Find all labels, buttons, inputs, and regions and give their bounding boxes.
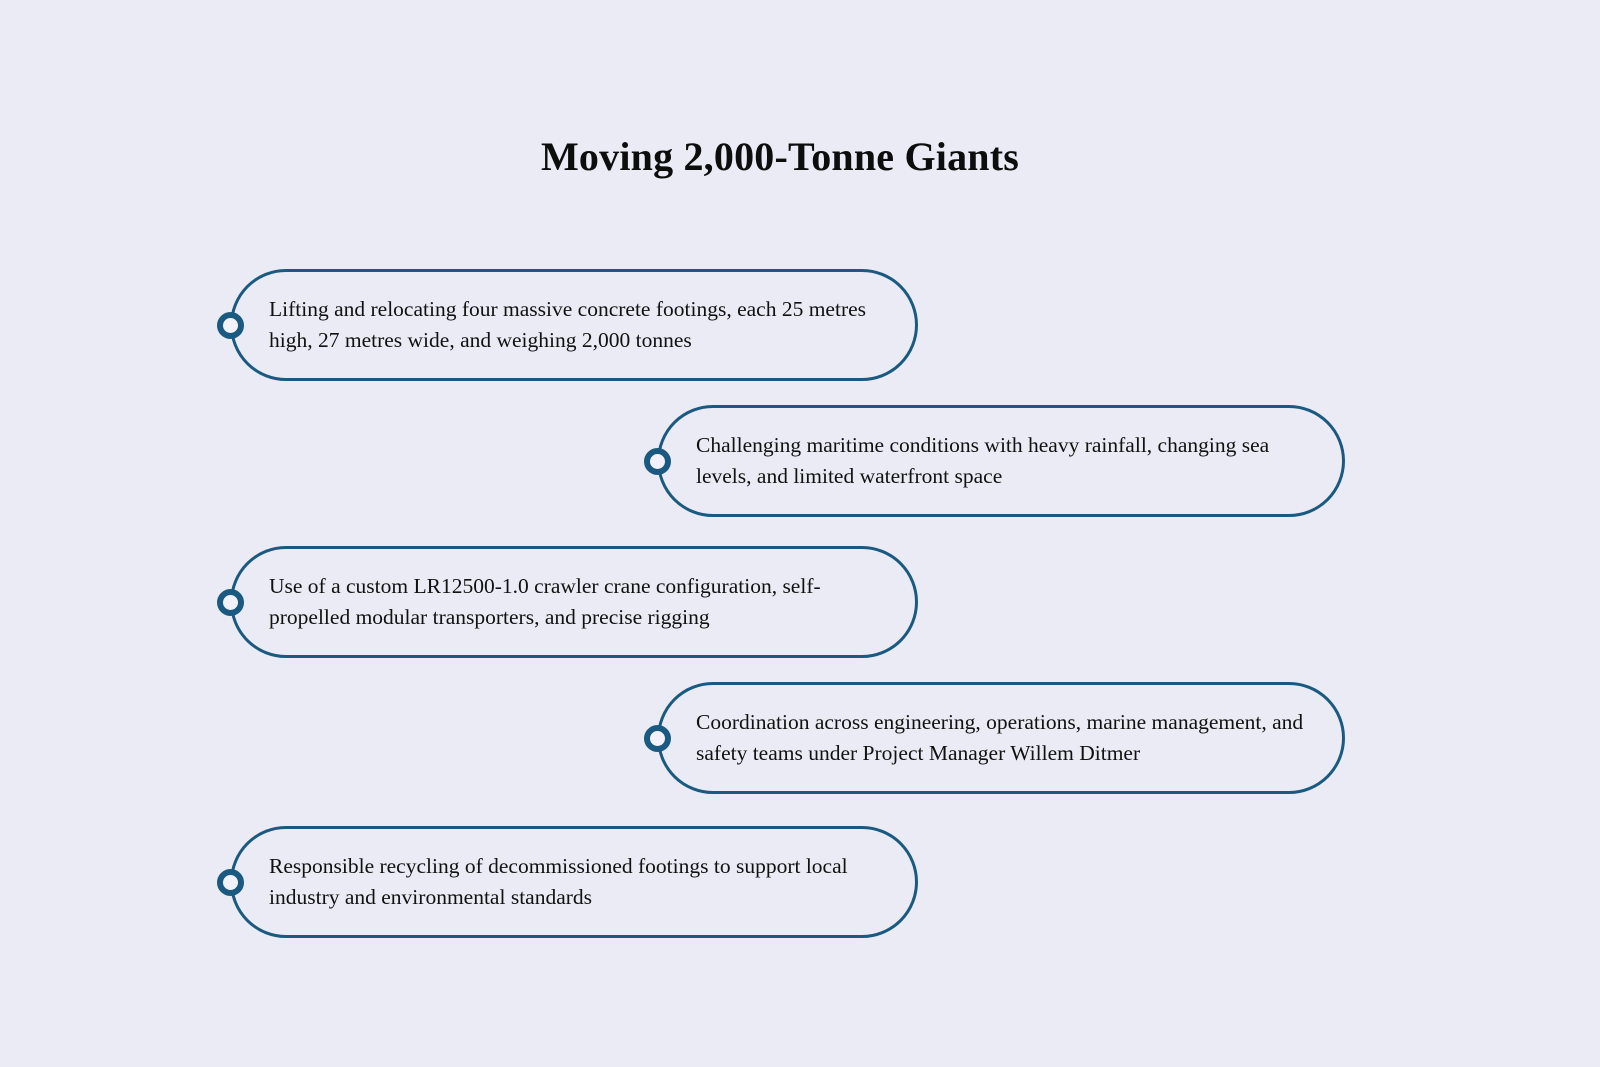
bubble-text: Coordination across engineering, operati… <box>660 707 1342 769</box>
bubble-text: Challenging maritime conditions with hea… <box>660 430 1342 492</box>
bubble-node-marker-icon <box>217 312 244 339</box>
bubble-1[interactable]: Lifting and relocating four massive conc… <box>230 269 918 381</box>
bubble-2[interactable]: Challenging maritime conditions with hea… <box>657 405 1345 517</box>
bubble-text: Use of a custom LR12500-1.0 crawler cran… <box>233 571 915 633</box>
bubble-text: Responsible recycling of decommissioned … <box>233 851 915 913</box>
diagram-canvas: Moving 2,000-Tonne Giants Lifting and re… <box>0 0 1600 1067</box>
bubble-text: Lifting and relocating four massive conc… <box>233 294 915 356</box>
page-title: Moving 2,000-Tonne Giants <box>0 133 1560 181</box>
bubble-node-marker-icon <box>644 725 671 752</box>
bubble-node-marker-icon <box>644 448 671 475</box>
bubble-4[interactable]: Coordination across engineering, operati… <box>657 682 1345 794</box>
bubble-node-marker-icon <box>217 869 244 896</box>
bubble-3[interactable]: Use of a custom LR12500-1.0 crawler cran… <box>230 546 918 658</box>
bubble-node-marker-icon <box>217 589 244 616</box>
bubble-5[interactable]: Responsible recycling of decommissioned … <box>230 826 918 938</box>
